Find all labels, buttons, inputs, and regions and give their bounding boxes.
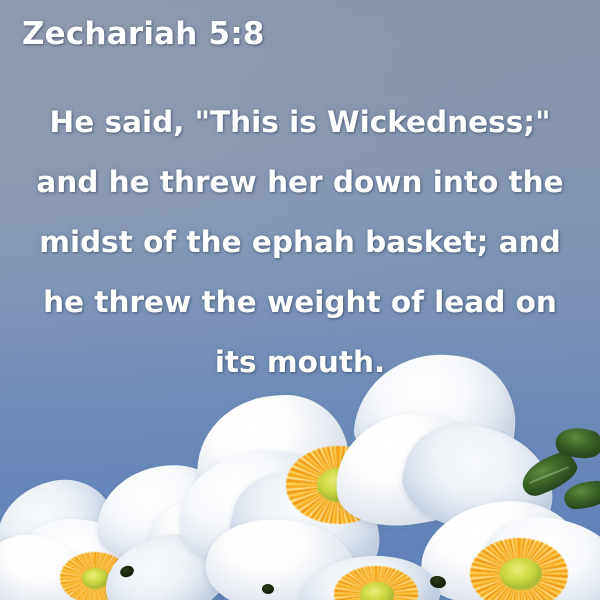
scripture-reference: Zechariah 5:8 [22, 16, 265, 52]
flower-center [470, 538, 568, 600]
flower-cluster [0, 370, 600, 600]
verse-image-canvas: Zechariah 5:8 He said, "This is Wickedne… [0, 0, 600, 600]
flower-disc [500, 558, 542, 590]
verse-line: and he threw her down into the [24, 152, 576, 212]
flower-center [334, 566, 418, 600]
verse-line: he threw the weight of lead on [24, 272, 576, 332]
verse-line: He said, "This is Wickedness;" [24, 92, 576, 152]
verse-line: its mouth. [24, 332, 576, 392]
flower-leaf [563, 480, 600, 510]
verse-line: midst of the ephah basket; and [24, 212, 576, 272]
scripture-verse-text: He said, "This is Wickedness;" and he th… [24, 92, 576, 392]
